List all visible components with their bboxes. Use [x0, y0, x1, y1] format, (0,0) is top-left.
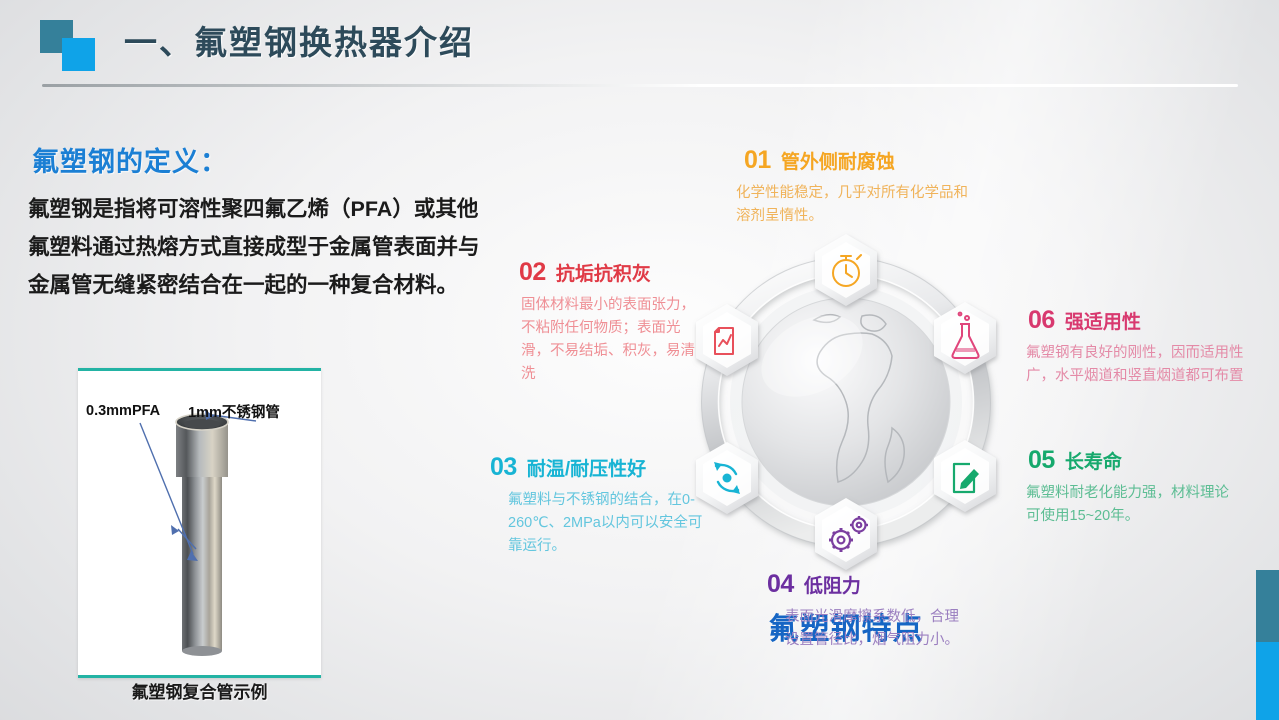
feature-number: 01 — [744, 146, 771, 174]
feature-item-02: 02抗垢抗积灰 固体材料最小的表面张力，不粘附任何物质；表面光滑，不易结垢、积灰… — [519, 260, 709, 386]
feature-heading: 06强适用性 — [1028, 308, 1263, 333]
feature-item-06: 06强适用性 氟塑钢有良好的刚性，因而适用性广，水平烟道和竖直烟道都可布置 — [1028, 308, 1263, 388]
feature-body: 表面光滑摩擦系数低，合理设置管径比，烟气阻力小。 — [785, 606, 967, 652]
feature-body: 化学性能稳定，几乎对所有化学品和溶剂呈惰性。 — [736, 182, 974, 228]
edge-accent-bottom — [1256, 642, 1279, 720]
feature-item-04: 04低阻力 表面光滑摩擦系数低，合理设置管径比，烟气阻力小。 — [767, 572, 967, 652]
feature-heading: 01管外侧耐腐蚀 — [744, 148, 974, 173]
feature-title: 耐温/耐压性好 — [527, 459, 646, 480]
feature-number: 04 — [767, 570, 794, 598]
slide-canvas: 一、氟塑钢换热器介绍 氟塑钢的定义： 氟塑钢是指将可溶性聚四氟乙烯（PFA）或其… — [0, 0, 1279, 720]
edge-accent-top — [1256, 570, 1279, 642]
feature-title: 低阻力 — [804, 576, 861, 597]
header-divider — [42, 84, 1238, 87]
feature-heading: 03耐温/耐压性好 — [490, 455, 705, 480]
composite-pipe-photo: 0.3mmPFA 1mm不锈钢管 — [78, 368, 321, 678]
feature-number: 03 — [490, 453, 517, 481]
feature-body: 氟塑料与不锈钢的结合，在0-260℃、2MPa以内可以安全可靠运行。 — [508, 489, 705, 558]
feature-body: 氟塑料耐老化能力强，材料理论可使用15~20年。 — [1026, 482, 1243, 528]
definition-body: 氟塑钢是指将可溶性聚四氟乙烯（PFA）或其他氟塑料通过热熔方式直接成型于金属管表… — [28, 190, 488, 304]
feature-number: 05 — [1028, 446, 1055, 474]
feature-item-03: 03耐温/耐压性好 氟塑料与不锈钢的结合，在0-260℃、2MPa以内可以安全可… — [490, 455, 705, 558]
page-title: 一、氟塑钢换热器介绍 — [124, 16, 474, 64]
logo-square-light — [62, 38, 95, 71]
slide-header: 一、氟塑钢换热器介绍 — [0, 0, 1279, 92]
features-ring-diagram: 氟塑钢特点 — [686, 228, 1006, 576]
feature-number: 06 — [1028, 306, 1055, 334]
definition-title: 氟塑钢的定义： — [32, 140, 228, 179]
feature-heading: 02抗垢抗积灰 — [519, 260, 709, 285]
feature-item-05: 05长寿命 氟塑料耐老化能力强，材料理论可使用15~20年。 — [1028, 448, 1243, 528]
feature-number: 02 — [519, 258, 546, 286]
feature-title: 抗垢抗积灰 — [556, 264, 651, 285]
feature-title: 长寿命 — [1065, 452, 1122, 473]
photo-label-pfa: 0.3mmPFA — [86, 403, 160, 419]
feature-heading: 05长寿命 — [1028, 448, 1243, 473]
feature-title: 管外侧耐腐蚀 — [781, 152, 895, 173]
feature-body: 氟塑钢有良好的刚性，因而适用性广，水平烟道和竖直烟道都可布置 — [1026, 342, 1263, 388]
ring-graphic — [686, 228, 1006, 576]
photo-caption: 氟塑钢复合管示例 — [78, 678, 321, 703]
photo-label-steel-tube: 1mm不锈钢管 — [188, 401, 280, 422]
feature-title: 强适用性 — [1065, 312, 1141, 333]
feature-item-01: 01管外侧耐腐蚀 化学性能稳定，几乎对所有化学品和溶剂呈惰性。 — [744, 148, 974, 228]
feature-body: 固体材料最小的表面张力，不粘附任何物质；表面光滑，不易结垢、积灰，易清洗 — [521, 294, 709, 386]
feature-heading: 04低阻力 — [767, 572, 967, 597]
